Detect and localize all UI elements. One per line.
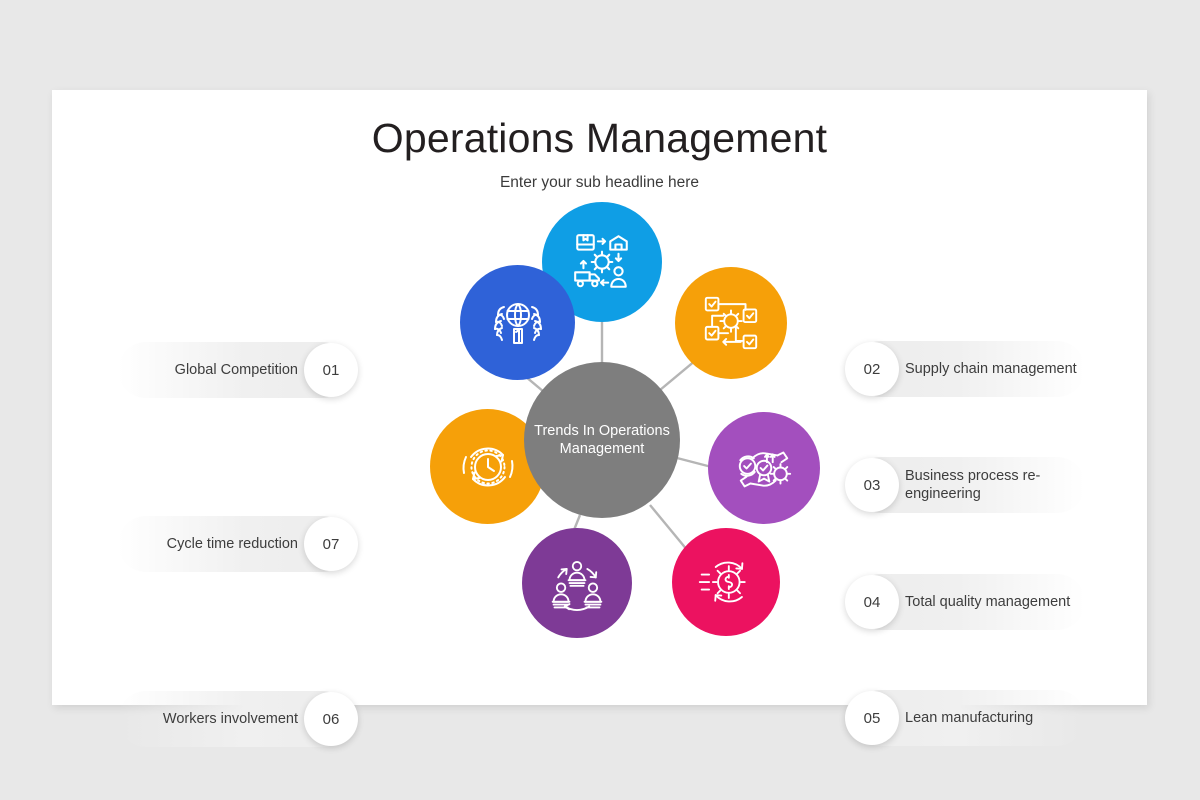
list-item-label: Global Competition — [175, 361, 298, 379]
gear-dollar-speed-icon — [696, 552, 756, 612]
list-item-04[interactable]: 04 Total quality management — [853, 574, 1085, 630]
list-item-label: Supply chain management — [905, 360, 1077, 378]
list-item-label: Workers involvement — [163, 710, 298, 728]
list-item-number: 04 — [845, 575, 899, 629]
process-flow-icon — [700, 292, 762, 354]
quality-hands-icon — [733, 437, 795, 499]
node-total-quality-management[interactable] — [708, 412, 820, 524]
node-global-competition[interactable] — [460, 265, 575, 380]
list-item-number: 02 — [845, 342, 899, 396]
list-item-01[interactable]: Global Competition 01 — [118, 342, 350, 398]
hub-circle[interactable]: Trends In Operations Management — [524, 362, 680, 518]
radial-diagram: Trends In Operations Management — [372, 210, 832, 670]
list-item-06[interactable]: Workers involvement 06 — [118, 691, 350, 747]
list-item-label: Lean manufacturing — [905, 709, 1033, 727]
node-lean-manufacturing[interactable] — [672, 528, 780, 636]
list-item-07[interactable]: Cycle time reduction 07 — [118, 516, 350, 572]
list-item-label: Total quality management — [905, 593, 1070, 611]
list-item-02[interactable]: 02 Supply chain management — [853, 341, 1085, 397]
slide-card: Operations Management Enter your sub hea… — [52, 90, 1147, 705]
list-item-number: 03 — [845, 458, 899, 512]
globe-laurel-icon — [486, 291, 550, 355]
page-title: Operations Management — [52, 113, 1147, 163]
supply-chain-icon — [569, 229, 635, 295]
list-item-number: 01 — [304, 343, 358, 397]
clock-cycle-icon — [456, 435, 520, 499]
page-subtitle: Enter your sub headline here — [52, 173, 1147, 193]
list-item-number: 06 — [304, 692, 358, 746]
list-item-number: 07 — [304, 517, 358, 571]
list-item-03[interactable]: 03 Business process re-engineering — [853, 457, 1085, 513]
team-collaboration-icon — [547, 553, 607, 613]
list-item-number: 05 — [845, 691, 899, 745]
node-business-process-re-engineering[interactable] — [675, 267, 787, 379]
list-item-label: Cycle time reduction — [167, 535, 298, 553]
hub-label: Trends In Operations Management — [524, 422, 680, 458]
slide-header: Operations Management Enter your sub hea… — [52, 113, 1147, 193]
list-item-label: Business process re-engineering — [905, 467, 1085, 503]
list-item-05[interactable]: 05 Lean manufacturing — [853, 690, 1085, 746]
node-workers-involvement[interactable] — [522, 528, 632, 638]
